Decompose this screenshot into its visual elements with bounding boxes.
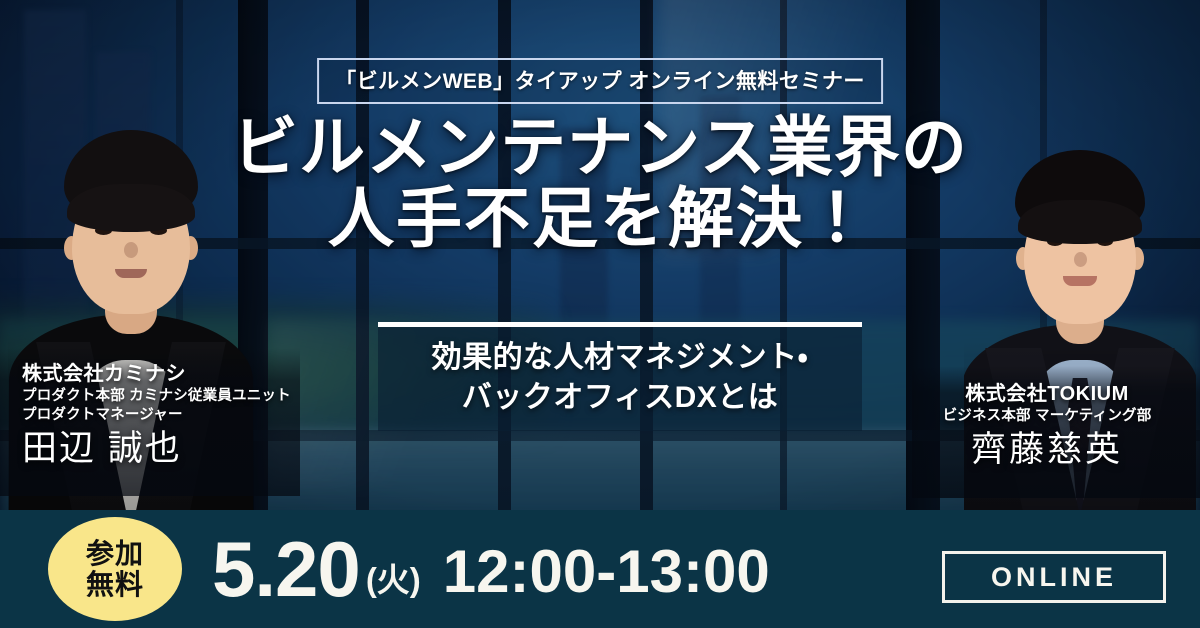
- subtitle-box: 効果的な人材マネジメント・ バックオフィスDXとは: [378, 327, 862, 431]
- speaker-left-dept-1: プロダクト本部 カミナシ従業員ユニット: [22, 387, 312, 406]
- subtitle-line-2: バックオフィスDXとは: [388, 378, 852, 418]
- subtitle-line-1: 効果的な人材マネジメント・: [388, 338, 852, 378]
- free-admission-badge: 参加 無料: [48, 517, 182, 621]
- headline-line-1: ビルメンテナンス業界の: [0, 112, 1200, 183]
- headline-line-2: 人手不足を解決！: [0, 183, 1200, 254]
- online-format-badge: ONLINE: [942, 551, 1166, 603]
- event-day-of-week: (火): [366, 563, 421, 596]
- seminar-tag: 「ビルメンWEB」タイアップ オンライン無料セミナー: [317, 58, 883, 104]
- speaker-right-name: 齊藤慈英: [912, 429, 1182, 470]
- webinar-banner: 「ビルメンWEB」タイアップ オンライン無料セミナー ビルメンテナンス業界の 人…: [0, 0, 1200, 628]
- speaker-caption-left: 株式会社カミナシ プロダクト本部 カミナシ従業員ユニット プロダクトマネージャー…: [22, 362, 312, 469]
- speaker-left-org: 株式会社カミナシ: [22, 362, 312, 387]
- event-time: 12:00-13:00: [443, 542, 770, 602]
- speaker-right-dept-1: ビジネス本部 マーケティング部: [912, 407, 1182, 426]
- speaker-left-name: 田辺 誠也: [22, 428, 312, 469]
- subtitle-block: 効果的な人材マネジメント・ バックオフィスDXとは: [378, 322, 862, 431]
- badge-line-2: 無料: [86, 569, 144, 600]
- event-date: 5.20: [212, 530, 360, 608]
- speaker-caption-right: 株式会社TOKIUM ビジネス本部 マーケティング部 齊藤慈英: [912, 382, 1182, 470]
- event-datetime: 5.20 (火) 12:00-13:00: [212, 510, 770, 628]
- speaker-left-dept-2: プロダクトマネージャー: [22, 406, 312, 425]
- badge-line-1: 参加: [86, 538, 144, 569]
- page-title: ビルメンテナンス業界の 人手不足を解決！: [0, 112, 1200, 253]
- speaker-right-org: 株式会社TOKIUM: [912, 382, 1182, 407]
